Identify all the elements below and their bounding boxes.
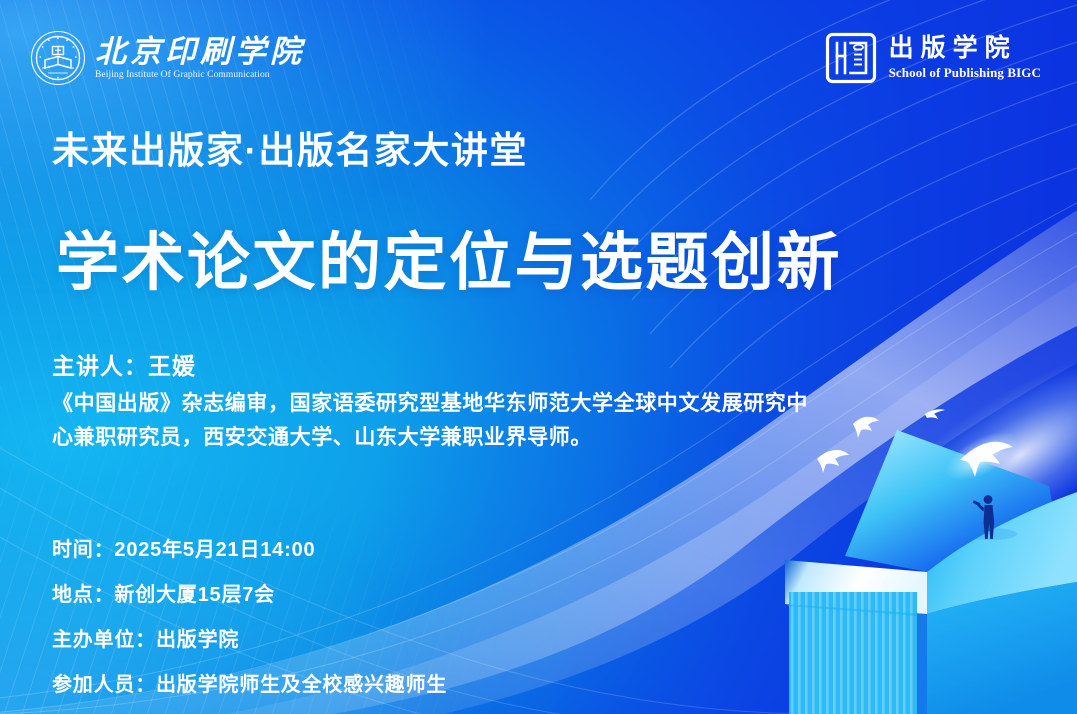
open-book-shape	[785, 430, 1077, 714]
series-kicker: 未来出版家·出版名家大讲堂	[52, 128, 932, 174]
speaker-bio: 《中国出版》杂志编审，国家语委研究型基地华东师范大学全球中文发展研究中心兼职研究…	[52, 387, 812, 455]
publishing-school-name-cn: 出版学院	[889, 35, 1017, 63]
speaker-name-line: 主讲人：王媛	[52, 349, 932, 384]
detail-audience: 参加人员：出版学院师生及全校感兴趣师生	[52, 675, 692, 695]
detail-place: 地点：新创大厦15层7会	[52, 585, 692, 605]
detail-organizer: 主办单位：出版学院	[52, 630, 692, 650]
poster-header: 北京印刷学院 Beijing Institute Of Graphic Comm…	[0, 0, 1077, 112]
bigc-seal-icon	[30, 30, 86, 86]
lecture-title: 学术论文的定位与选题创新	[52, 226, 932, 300]
open-book-stage-illustration	[777, 394, 1077, 714]
event-poster: 北京印刷学院 Beijing Institute Of Graphic Comm…	[0, 0, 1077, 714]
publishing-school-logo: 出版学院 School of Publishing BIGC	[825, 32, 1041, 84]
bigc-logo-text: 北京印刷学院 Beijing Institute Of Graphic Comm…	[95, 36, 305, 80]
publishing-school-logo-text: 出版学院 School of Publishing BIGC	[889, 35, 1041, 81]
bigc-logo: 北京印刷学院 Beijing Institute Of Graphic Comm…	[30, 30, 305, 86]
event-details: 时间：2025年5月21日14:00 地点：新创大厦15层7会 主办单位：出版学…	[52, 540, 692, 695]
publishing-school-name-en: School of Publishing BIGC	[889, 65, 1041, 81]
school-of-publishing-mark-icon	[825, 32, 877, 84]
bigc-name-en: Beijing Institute Of Graphic Communicati…	[95, 70, 305, 80]
bigc-name-cn: 北京印刷学院	[95, 36, 305, 69]
detail-time: 时间：2025年5月21日14:00	[52, 540, 692, 560]
